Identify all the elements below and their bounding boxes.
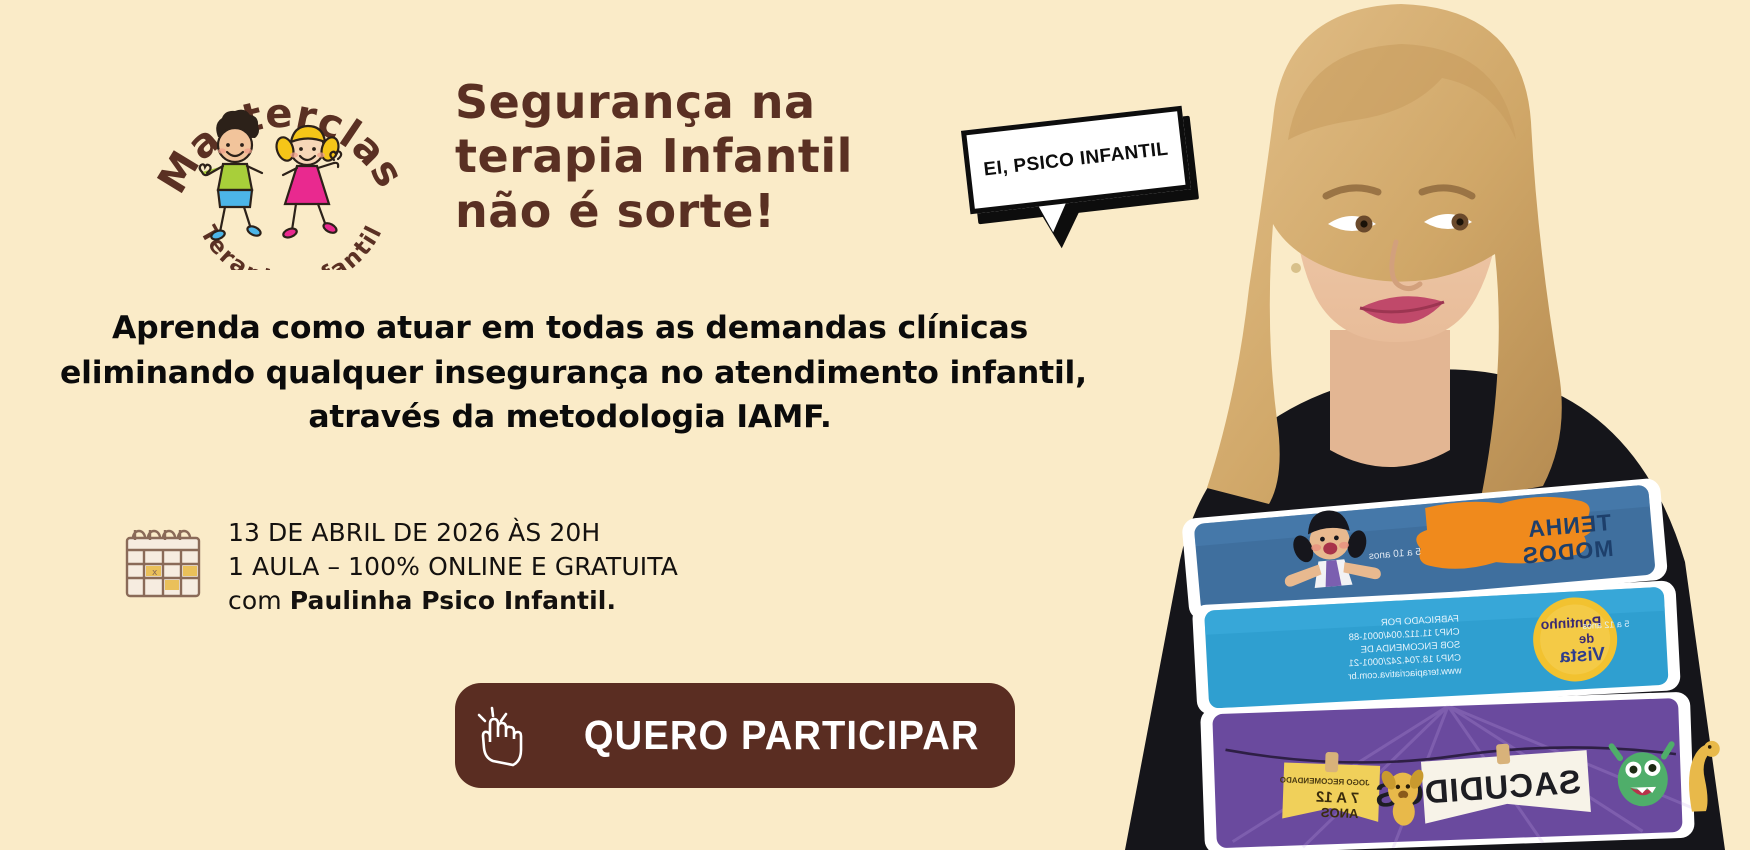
cta-label: QUERO PARTICIPAR (584, 712, 980, 759)
svg-text:ANOS: ANOS (1320, 805, 1358, 821)
headline-line-1: Segurança na (455, 75, 875, 129)
event-date: 13 DE ABRIL DE 2026 ÀS 20H (228, 516, 678, 550)
quero-participar-button[interactable]: QUERO PARTICIPAR (455, 683, 1015, 788)
event-details: x 13 DE ABRIL DE 2026 ÀS 20H 1 AULA – 10… (120, 510, 678, 618)
hand-click-cursor-icon (475, 705, 527, 767)
event-format: 1 AULA – 100% ONLINE E GRATUITA (228, 550, 678, 584)
svg-text:x: x (152, 568, 158, 578)
headline-line-3: não é sorte! (455, 184, 875, 238)
woman-holding-game-boxes-photo: TENHA MODOS 5 a 10 anos (1030, 0, 1750, 850)
subheadline: Aprenda como atuar em todas as demandas … (60, 306, 1080, 440)
masterclass-logo: Masterclass Terapia Infantil (155, 45, 405, 270)
svg-text:Vista: Vista (1559, 644, 1606, 667)
event-host-prefix: com (228, 586, 290, 615)
subheadline-line-2: eliminando qualquer insegurança no atend… (60, 351, 1080, 396)
calendar-icon: x (120, 518, 210, 606)
event-host-name: Paulinha Psico Infantil. (290, 586, 616, 615)
event-host: com Paulinha Psico Infantil. (228, 584, 678, 618)
subheadline-line-1: Aprenda como atuar em todas as demandas … (60, 306, 1080, 351)
page-headline: Segurança na terapia Infantil não é sort… (455, 75, 875, 238)
headline-line-2: terapia Infantil (455, 129, 875, 183)
subheadline-line-3: através da metodologia IAMF. (60, 395, 1080, 440)
svg-text:Masterclass: Masterclass (155, 45, 405, 201)
